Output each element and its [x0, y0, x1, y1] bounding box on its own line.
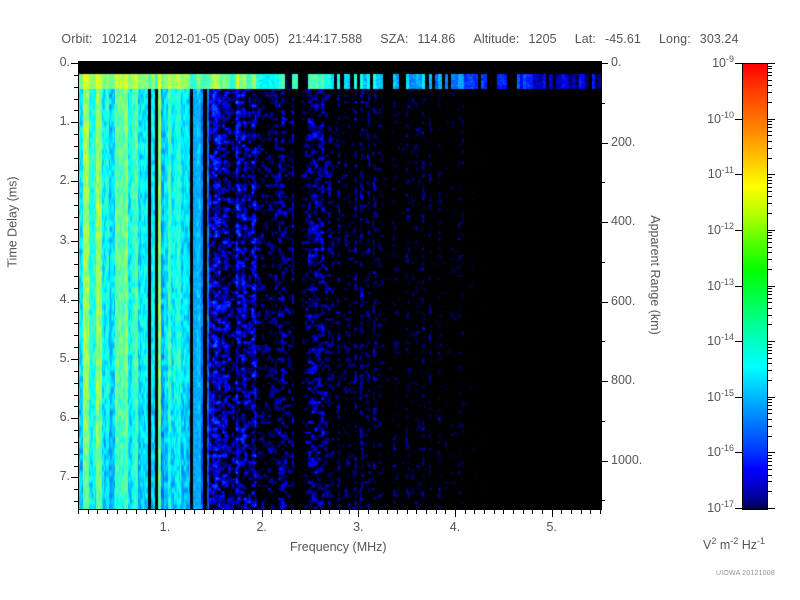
colorbar-tick-minor [768, 469, 772, 470]
y-axis-ticklabel: 4. [44, 292, 70, 306]
y-axis-ticklabel: 7. [44, 469, 70, 483]
x-axis-tick-minor [233, 509, 234, 514]
colorbar-tick-minor [768, 405, 772, 406]
y-axis-tick-minor [74, 170, 78, 171]
x-axis-tick-minor [503, 509, 504, 514]
colorbar-tick-major [768, 341, 775, 342]
colorbar-ticklabel: 10-16 [686, 443, 734, 459]
latitude-label: Lat: [575, 32, 596, 46]
colorbar-tick-minor [768, 363, 772, 364]
y-axis-tick-minor [74, 99, 78, 100]
y2-axis-tick-minor [601, 182, 605, 183]
y-axis-tick-minor [74, 466, 78, 467]
credit-text: UIOWA 20121008 [716, 570, 775, 577]
colorbar-tick-minor [768, 419, 772, 420]
sza-label: SZA: [380, 32, 408, 46]
colorbar-tick-minor [768, 92, 772, 93]
colorbar-tick-minor [768, 298, 772, 299]
x-axis-tick-minor [300, 509, 301, 514]
altitude-value: 1205 [528, 32, 556, 46]
colorbar-tick-major [768, 174, 775, 175]
x-axis-tick-minor [397, 509, 398, 514]
colorbar-tick-minor [768, 436, 772, 437]
colorbar-tick-minor [768, 409, 772, 410]
x-axis-tick-minor [513, 509, 514, 514]
x-axis-tick-minor [542, 509, 543, 514]
x-axis-tick-minor [281, 509, 282, 514]
y-axis-ticklabel: 2. [44, 173, 70, 187]
x-axis-tick-minor [532, 509, 533, 514]
spectrogram-image [79, 62, 601, 509]
colorbar-tick-minor [768, 131, 772, 132]
x-axis-tick-minor [600, 509, 601, 514]
colorbar-ticklabel: 10-15 [686, 388, 734, 404]
colorbar-tick-minor [768, 66, 772, 67]
x-axis-tick-minor [329, 509, 330, 514]
colorbar-tick-minor [768, 232, 772, 233]
y-axis-tick-major [71, 477, 78, 478]
x-axis-tick-minor [320, 509, 321, 514]
colorbar-tick-minor [768, 213, 772, 214]
colorbar-tick-minor [768, 353, 772, 354]
colorbar-tick-minor [768, 315, 772, 316]
x-axis-tick-minor [474, 509, 475, 514]
y-axis-tick-minor [74, 430, 78, 431]
x-axis-tick-minor [146, 509, 147, 514]
x-axis-tick-minor [252, 509, 253, 514]
colorbar-tick-minor [768, 127, 772, 128]
colorbar-tick-minor [768, 402, 772, 403]
y-axis-tick-major [71, 181, 78, 182]
y2-axis-tick-minor [601, 500, 605, 501]
colorbar-tick-minor [768, 203, 772, 204]
x-axis-tick-minor [368, 509, 369, 514]
colorbar-tick-minor [768, 455, 772, 456]
y-axis-tick-minor [74, 229, 78, 230]
x-axis-tick-minor [242, 509, 243, 514]
x-axis-tick-minor [213, 509, 214, 514]
colorbar-tick-minor [768, 288, 772, 289]
y-axis-tick-minor [74, 75, 78, 76]
y-axis-tick-minor [74, 406, 78, 407]
y-axis-tick-minor [74, 371, 78, 372]
x-axis-tick-minor [465, 509, 466, 514]
x-axis-ticklabel: 3. [349, 520, 367, 534]
y-axis-tick-minor [74, 442, 78, 443]
y2-axis-tick-major [601, 461, 608, 462]
observation-time: 21:44:17.588 [288, 32, 362, 46]
y-axis-tick-minor [74, 312, 78, 313]
colorbar-tick-minor [768, 183, 772, 184]
colorbar-tick-minor [768, 72, 772, 73]
y-axis-ticklabel: 5. [44, 351, 70, 365]
colorbar-ticklabel: 10-9 [686, 54, 734, 70]
colorbar-tick-minor [768, 294, 772, 295]
y-axis-tick-major [71, 63, 78, 64]
colorbar-tick-minor [768, 191, 772, 192]
colorbar-tick-minor [768, 350, 772, 351]
y-axis-tick-major [71, 418, 78, 419]
colorbar-tick-major [768, 508, 775, 509]
longitude-label: Long: [659, 32, 691, 46]
x-axis-tick-minor [310, 509, 311, 514]
ionogram-plot-area [78, 61, 602, 510]
y2-axis-tick-major [601, 222, 608, 223]
y-axis-tick-major [71, 122, 78, 123]
colorbar-tick-major [735, 397, 742, 398]
colorbar-gradient [743, 64, 767, 509]
colorbar-tick-minor [768, 324, 772, 325]
colorbar-tick-major [768, 397, 775, 398]
x-axis-tick-major [262, 509, 263, 517]
y2-axis-tick-minor [601, 421, 605, 422]
y2-axis-ticklabel: 400. [611, 214, 635, 228]
y-axis-ticklabel: 0. [44, 55, 70, 69]
x-axis-ticklabel: 1. [156, 520, 174, 534]
x-axis-tick-minor [523, 509, 524, 514]
x-axis-tick-minor [223, 509, 224, 514]
colorbar-tick-minor [768, 269, 772, 270]
colorbar-tick-major [735, 119, 742, 120]
x-axis-tick-minor [184, 509, 185, 514]
colorbar-tick-minor [768, 85, 772, 86]
y-axis-tick-minor [74, 501, 78, 502]
x-axis-tick-minor [271, 509, 272, 514]
colorbar-tick-minor [768, 413, 772, 414]
colorbar-tick-minor [768, 481, 772, 482]
y-axis-tick-minor [74, 489, 78, 490]
colorbar-tick-minor [768, 141, 772, 142]
colorbar-tick-minor [768, 121, 772, 122]
y2-axis-tick-major [601, 302, 608, 303]
colorbar-tick-minor [768, 238, 772, 239]
latitude-value: -45.61 [605, 32, 641, 46]
x-axis-tick-minor [387, 509, 388, 514]
sza-value: 114.86 [417, 32, 455, 46]
y-axis-tick-minor [74, 158, 78, 159]
y-axis-title-left: Time Delay (ms) [6, 176, 20, 267]
colorbar-tick-minor [768, 148, 772, 149]
colorbar-tick-minor [768, 344, 772, 345]
y-axis-ticklabel: 1. [44, 114, 70, 128]
x-axis-tick-minor [571, 509, 572, 514]
x-axis-tick-major [552, 509, 553, 517]
colorbar-tick-minor [768, 80, 772, 81]
y2-axis-tick-minor [601, 341, 605, 342]
x-axis-tick-minor [136, 509, 137, 514]
colorbar-tick-minor [768, 475, 772, 476]
colorbar-tick-major [735, 341, 742, 342]
y-axis-tick-minor [74, 87, 78, 88]
colorbar-tick-minor [768, 426, 772, 427]
x-axis-tick-minor [590, 509, 591, 514]
y-axis-tick-major [71, 241, 78, 242]
y-axis-tick-minor [74, 205, 78, 206]
colorbar-tick-minor [768, 252, 772, 253]
colorbar-tick-minor [768, 135, 772, 136]
y-axis-ticklabel: 6. [44, 410, 70, 424]
colorbar-tick-minor [768, 259, 772, 260]
colorbar-tick-minor [768, 491, 772, 492]
x-axis-tick-major [358, 509, 359, 517]
y-axis-tick-major [71, 359, 78, 360]
x-axis-tick-minor [445, 509, 446, 514]
y-axis-tick-minor [74, 252, 78, 253]
x-axis-tick-minor [561, 509, 562, 514]
colorbar-units-label: V2 m-2 Hz-1 [703, 536, 765, 552]
x-axis-tick-minor [78, 509, 79, 514]
y-axis-tick-minor [74, 134, 78, 135]
x-axis-tick-minor [378, 509, 379, 514]
longitude-value: 303.24 [700, 32, 739, 46]
y-axis-tick-major [71, 300, 78, 301]
x-axis-tick-minor [339, 509, 340, 514]
y-axis-tick-minor [74, 193, 78, 194]
x-axis-tick-minor [175, 509, 176, 514]
colorbar-tick-major [768, 119, 775, 120]
x-axis-tick-minor [291, 509, 292, 514]
x-axis-tick-minor [349, 509, 350, 514]
y2-axis-tick-minor [601, 262, 605, 263]
x-axis-tick-minor [107, 509, 108, 514]
x-axis-tick-major [165, 509, 166, 517]
colorbar-ticklabel: 10-14 [686, 332, 734, 348]
colorbar-tick-minor [768, 302, 772, 303]
colorbar-tick-minor [768, 124, 772, 125]
x-axis-tick-minor [97, 509, 98, 514]
colorbar-tick-major [735, 286, 742, 287]
colorbar-tick-major [735, 230, 742, 231]
x-axis-ticklabel: 4. [446, 520, 464, 534]
colorbar-tick-minor [768, 102, 772, 103]
orbit-label: Orbit: [61, 32, 92, 46]
x-axis-ticklabel: 5. [543, 520, 561, 534]
y2-axis-ticklabel: 1000. [611, 453, 642, 467]
y-axis-tick-minor [74, 454, 78, 455]
y-axis-tick-minor [74, 110, 78, 111]
altitude-label: Altitude: [473, 32, 519, 46]
colorbar-tick-major [768, 452, 775, 453]
y-axis-tick-minor [74, 264, 78, 265]
colorbar-tick-minor [768, 399, 772, 400]
x-axis-tick-minor [407, 509, 408, 514]
colorbar-tick-minor [768, 465, 772, 466]
colorbar-tick-major [735, 63, 742, 64]
x-axis-tick-minor [484, 509, 485, 514]
y-axis-tick-minor [74, 383, 78, 384]
colorbar-tick-major [768, 230, 775, 231]
x-axis-tick-major [455, 509, 456, 517]
y-axis-tick-minor [74, 146, 78, 147]
x-axis-tick-minor [416, 509, 417, 514]
x-axis-tick-minor [581, 509, 582, 514]
colorbar-tick-minor [768, 370, 772, 371]
colorbar-tick-minor [768, 235, 772, 236]
colorbar-ticklabel: 10-11 [686, 165, 734, 181]
observation-date: 2012-01-05 (Day 005) [155, 32, 279, 46]
y2-axis-ticklabel: 600. [611, 294, 635, 308]
colorbar-tick-major [735, 508, 742, 509]
x-axis-tick-minor [426, 509, 427, 514]
colorbar-tick-minor [768, 461, 772, 462]
x-axis-title: Frequency (MHz) [290, 540, 387, 554]
y-axis-tick-minor [74, 217, 78, 218]
colorbar-ticklabel: 10-10 [686, 110, 734, 126]
colorbar-tick-major [768, 286, 775, 287]
y2-axis-tick-major [601, 381, 608, 382]
colorbar-tick-minor [768, 196, 772, 197]
colorbar-tick-minor [768, 75, 772, 76]
colorbar-ticklabel: 10-12 [686, 221, 734, 237]
orbit-value: 10214 [102, 32, 137, 46]
colorbar-tick-major [768, 63, 775, 64]
colorbar-tick-minor [768, 358, 772, 359]
colorbar-ticklabel: 10-13 [686, 277, 734, 293]
y2-axis-ticklabel: 200. [611, 135, 635, 149]
x-axis-ticklabel: 2. [253, 520, 271, 534]
colorbar-tick-minor [768, 308, 772, 309]
x-axis-tick-minor [494, 509, 495, 514]
y-axis-tick-minor [74, 395, 78, 396]
y-axis-tick-minor [74, 347, 78, 348]
x-axis-tick-minor [204, 509, 205, 514]
y-axis-tick-minor [74, 335, 78, 336]
x-axis-tick-minor [126, 509, 127, 514]
colorbar-tick-minor [768, 247, 772, 248]
x-axis-tick-minor [88, 509, 89, 514]
colorbar-tick-minor [768, 187, 772, 188]
colorbar-tick-minor [768, 458, 772, 459]
y-axis-tick-minor [74, 288, 78, 289]
colorbar-tick-minor [768, 158, 772, 159]
colorbar-tick-major [735, 452, 742, 453]
colorbar-tick-minor [768, 177, 772, 178]
colorbar [742, 63, 768, 510]
y-axis-ticklabel: 3. [44, 233, 70, 247]
y2-axis-ticklabel: 800. [611, 373, 635, 387]
y-axis-tick-minor [74, 276, 78, 277]
colorbar-ticklabel: 10-17 [686, 499, 734, 515]
colorbar-tick-minor [768, 180, 772, 181]
metadata-header: Orbit: 10214 2012-01-05 (Day 005) 21:44:… [0, 30, 800, 48]
colorbar-tick-minor [768, 347, 772, 348]
colorbar-tick-minor [768, 68, 772, 69]
y2-axis-ticklabel: 0. [611, 55, 621, 69]
y2-axis-tick-major [601, 143, 608, 144]
y2-axis-tick-major [601, 63, 608, 64]
colorbar-tick-minor [768, 242, 772, 243]
colorbar-tick-minor [768, 291, 772, 292]
colorbar-tick-minor [768, 380, 772, 381]
y-axis-tick-minor [74, 323, 78, 324]
colorbar-tick-major [735, 174, 742, 175]
x-axis-tick-minor [194, 509, 195, 514]
x-axis-tick-minor [436, 509, 437, 514]
y2-axis-tick-minor [601, 103, 605, 104]
x-axis-tick-minor [155, 509, 156, 514]
x-axis-tick-minor [117, 509, 118, 514]
